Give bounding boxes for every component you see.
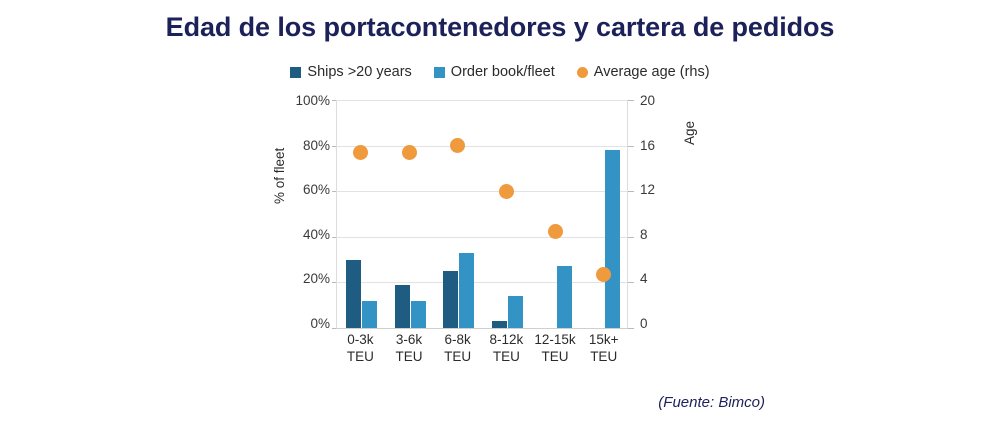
y-tick-label: 40% <box>303 228 330 242</box>
y-axis-right-ticks: 20 16 12 8 4 0 <box>628 100 674 328</box>
y2-tick-label: 0 <box>640 317 648 331</box>
bar-order-book-fleet[interactable] <box>411 301 426 328</box>
y2-tick-mark <box>628 237 634 238</box>
legend-swatch-circle-icon <box>577 67 588 78</box>
bar-group <box>531 100 580 328</box>
legend-label: Order book/fleet <box>451 64 555 80</box>
source-note: (Fuente: Bimco) <box>658 394 765 411</box>
legend-swatch-square-icon <box>434 67 445 78</box>
point-average-age[interactable] <box>353 145 368 160</box>
bar-order-book-fleet[interactable] <box>508 296 523 328</box>
legend-label: Ships >20 years <box>307 64 411 80</box>
bar-group <box>385 100 434 328</box>
y2-tick-mark <box>628 100 634 101</box>
bar-group <box>482 100 531 328</box>
y2-tick-mark <box>628 146 634 147</box>
y2-tick-label: 20 <box>640 94 655 108</box>
bar-ships-over-20-years[interactable] <box>443 271 458 328</box>
x-tick-label-12-15k: 12-15k TEU <box>531 332 580 366</box>
y-tick-label: 20% <box>303 272 330 286</box>
y-axis-left-ticks: 100% 80% 60% 40% 20% 0% <box>284 100 330 328</box>
y-tick-label: 100% <box>295 94 330 108</box>
x-tick-label-0-3k: 0-3k TEU <box>336 332 385 366</box>
bar-order-book-fleet[interactable] <box>557 266 572 328</box>
bar-ships-over-20-years[interactable] <box>492 321 507 328</box>
page-title: Edad de los portacontenedores y cartera … <box>0 12 1000 43</box>
bar-order-book-fleet[interactable] <box>605 150 620 328</box>
y2-tick-mark <box>628 328 634 329</box>
legend-label: Average age (rhs) <box>594 64 710 80</box>
point-average-age[interactable] <box>499 184 514 199</box>
x-tick-label-3-6k: 3-6k TEU <box>385 332 434 366</box>
y2-tick-mark <box>628 282 634 283</box>
x-tick-label-8-12k: 8-12k TEU <box>482 332 531 366</box>
bar-order-book-fleet[interactable] <box>459 253 474 328</box>
chart-legend: Ships >20 years Order book/fleet Average… <box>0 64 1000 80</box>
bar-group <box>433 100 482 328</box>
x-axis-category-labels: 0-3k TEU 3-6k TEU 6-8k TEU 8-12k TEU 12-… <box>336 332 628 366</box>
point-average-age[interactable] <box>548 224 563 239</box>
x-tick-label-15k-plus: 15k+ TEU <box>579 332 628 366</box>
legend-item-ships-over-20-years[interactable]: Ships >20 years <box>290 64 411 80</box>
legend-swatch-square-icon <box>290 67 301 78</box>
point-average-age[interactable] <box>450 138 465 153</box>
y2-tick-label: 16 <box>640 139 655 153</box>
y2-tick-label: 4 <box>640 272 648 286</box>
legend-item-order-book-fleet[interactable]: Order book/fleet <box>434 64 555 80</box>
y-axis-title-right: Age <box>682 121 697 145</box>
y-tick-label: 80% <box>303 139 330 153</box>
y-tick-label: 0% <box>310 317 330 331</box>
bar-group <box>336 100 385 328</box>
bar-ships-over-20-years[interactable] <box>346 260 361 328</box>
bar-order-book-fleet[interactable] <box>362 301 377 328</box>
y2-tick-label: 12 <box>640 183 655 197</box>
y2-tick-label: 8 <box>640 228 648 242</box>
chart-series-container <box>336 100 628 328</box>
y2-tick-mark <box>628 191 634 192</box>
point-average-age[interactable] <box>402 145 417 160</box>
x-axis-baseline <box>336 328 628 329</box>
y-tick-label: 60% <box>303 183 330 197</box>
bar-ships-over-20-years[interactable] <box>395 285 410 328</box>
x-tick-label-6-8k: 6-8k TEU <box>433 332 482 366</box>
legend-item-average-age[interactable]: Average age (rhs) <box>577 64 710 80</box>
bar-group <box>579 100 628 328</box>
